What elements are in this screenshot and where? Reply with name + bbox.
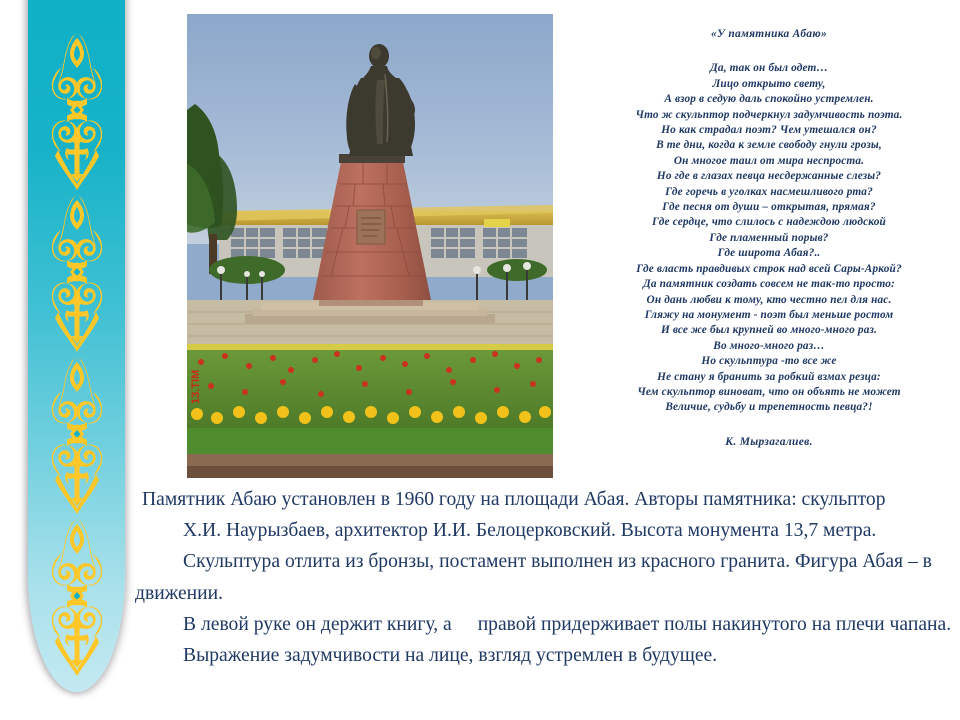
poem-line: Не стану я бранить за робкий взмах резца…: [580, 370, 958, 385]
abai-monument-photo: 13.TIM: [187, 14, 553, 478]
poem-line: Где горечь в уголках насмешливого рта?: [580, 185, 958, 200]
paragraph-part-a: В левой руке он держит книгу, а: [183, 614, 452, 635]
photo-illustration: 13.TIM: [187, 14, 553, 478]
svg-text:13.TIM: 13.TIM: [190, 370, 202, 404]
poem-line: В те дни, когда к земле свободу гнули гр…: [580, 138, 958, 153]
poem-line: Во много-много раз…: [580, 339, 958, 354]
poem-line: Но где в глазах певца несдержанные слезы…: [580, 169, 958, 184]
poem-line: Он многое таил от мира неспроста.: [580, 154, 958, 169]
paragraph: Памятник Абаю установлен в 1960 году на …: [135, 484, 953, 515]
poem-line: Величие, судьбу и трепетность певца?!: [580, 400, 958, 415]
poem-line: Что ж скульптор подчеркнул задумчивость …: [580, 108, 958, 123]
paragraph: Скульптура отлита из бронзы, постамент в…: [135, 546, 953, 608]
poem-title: «У памятника Абаю»: [580, 27, 958, 42]
description-text-block: Памятник Абаю установлен в 1960 году на …: [135, 484, 953, 671]
poem-line: Он дань любви к тому, кто честно пел для…: [580, 293, 958, 308]
paragraph-part-b: правой придерживает полы накинутого на п…: [478, 614, 951, 635]
kazakh-ornament-pattern-icon: [41, 28, 113, 676]
poem-line: Где пламенный порыв?: [580, 231, 958, 246]
poem-line: А взор в седую даль спокойно устремлен.: [580, 92, 958, 107]
poem-line: Гляжу на монумент - поэт был меньше рост…: [580, 308, 958, 323]
poem-line: Где широта Абая?..: [580, 246, 958, 261]
poem-block: «У памятника Абаю» Да, так он был одет… …: [580, 27, 958, 450]
poem-line: Где сердце, что слилось с надеждою людск…: [580, 215, 958, 230]
poem-line: Лицо открыто свету,: [580, 77, 958, 92]
kazakh-ornament-band: [28, 0, 125, 692]
paragraph: Х.И. Наурызбаев, архитектор И.И. Белоцер…: [135, 515, 953, 546]
paragraph: Выражение задумчивости на лице, взгляд у…: [135, 640, 953, 671]
poem-line: Чем скульптор виноват, что он объять не …: [580, 385, 958, 400]
poem-line: Но как страдал поэт? Чем утешался он?: [580, 123, 958, 138]
poem-author: К. Мырзагалиев.: [580, 435, 958, 450]
poem-line: Да, так он был одет…: [580, 61, 958, 76]
slide-canvas: 13.TIM «У памятника Абаю» Да, так он был…: [0, 0, 960, 720]
poem-line: Где песня от души – открытая, прямая?: [580, 200, 958, 215]
poem-line: Где власть правдивых строк над всей Сары…: [580, 262, 958, 277]
paragraph-split: В левой руке он держит книгу, аправой пр…: [135, 609, 953, 640]
poem-line: И все же был крупней во много-много раз.: [580, 323, 958, 338]
poem-line: Да памятник создать совсем не так-то про…: [580, 277, 958, 292]
poem-line: Но скульптура -то все же: [580, 354, 958, 369]
